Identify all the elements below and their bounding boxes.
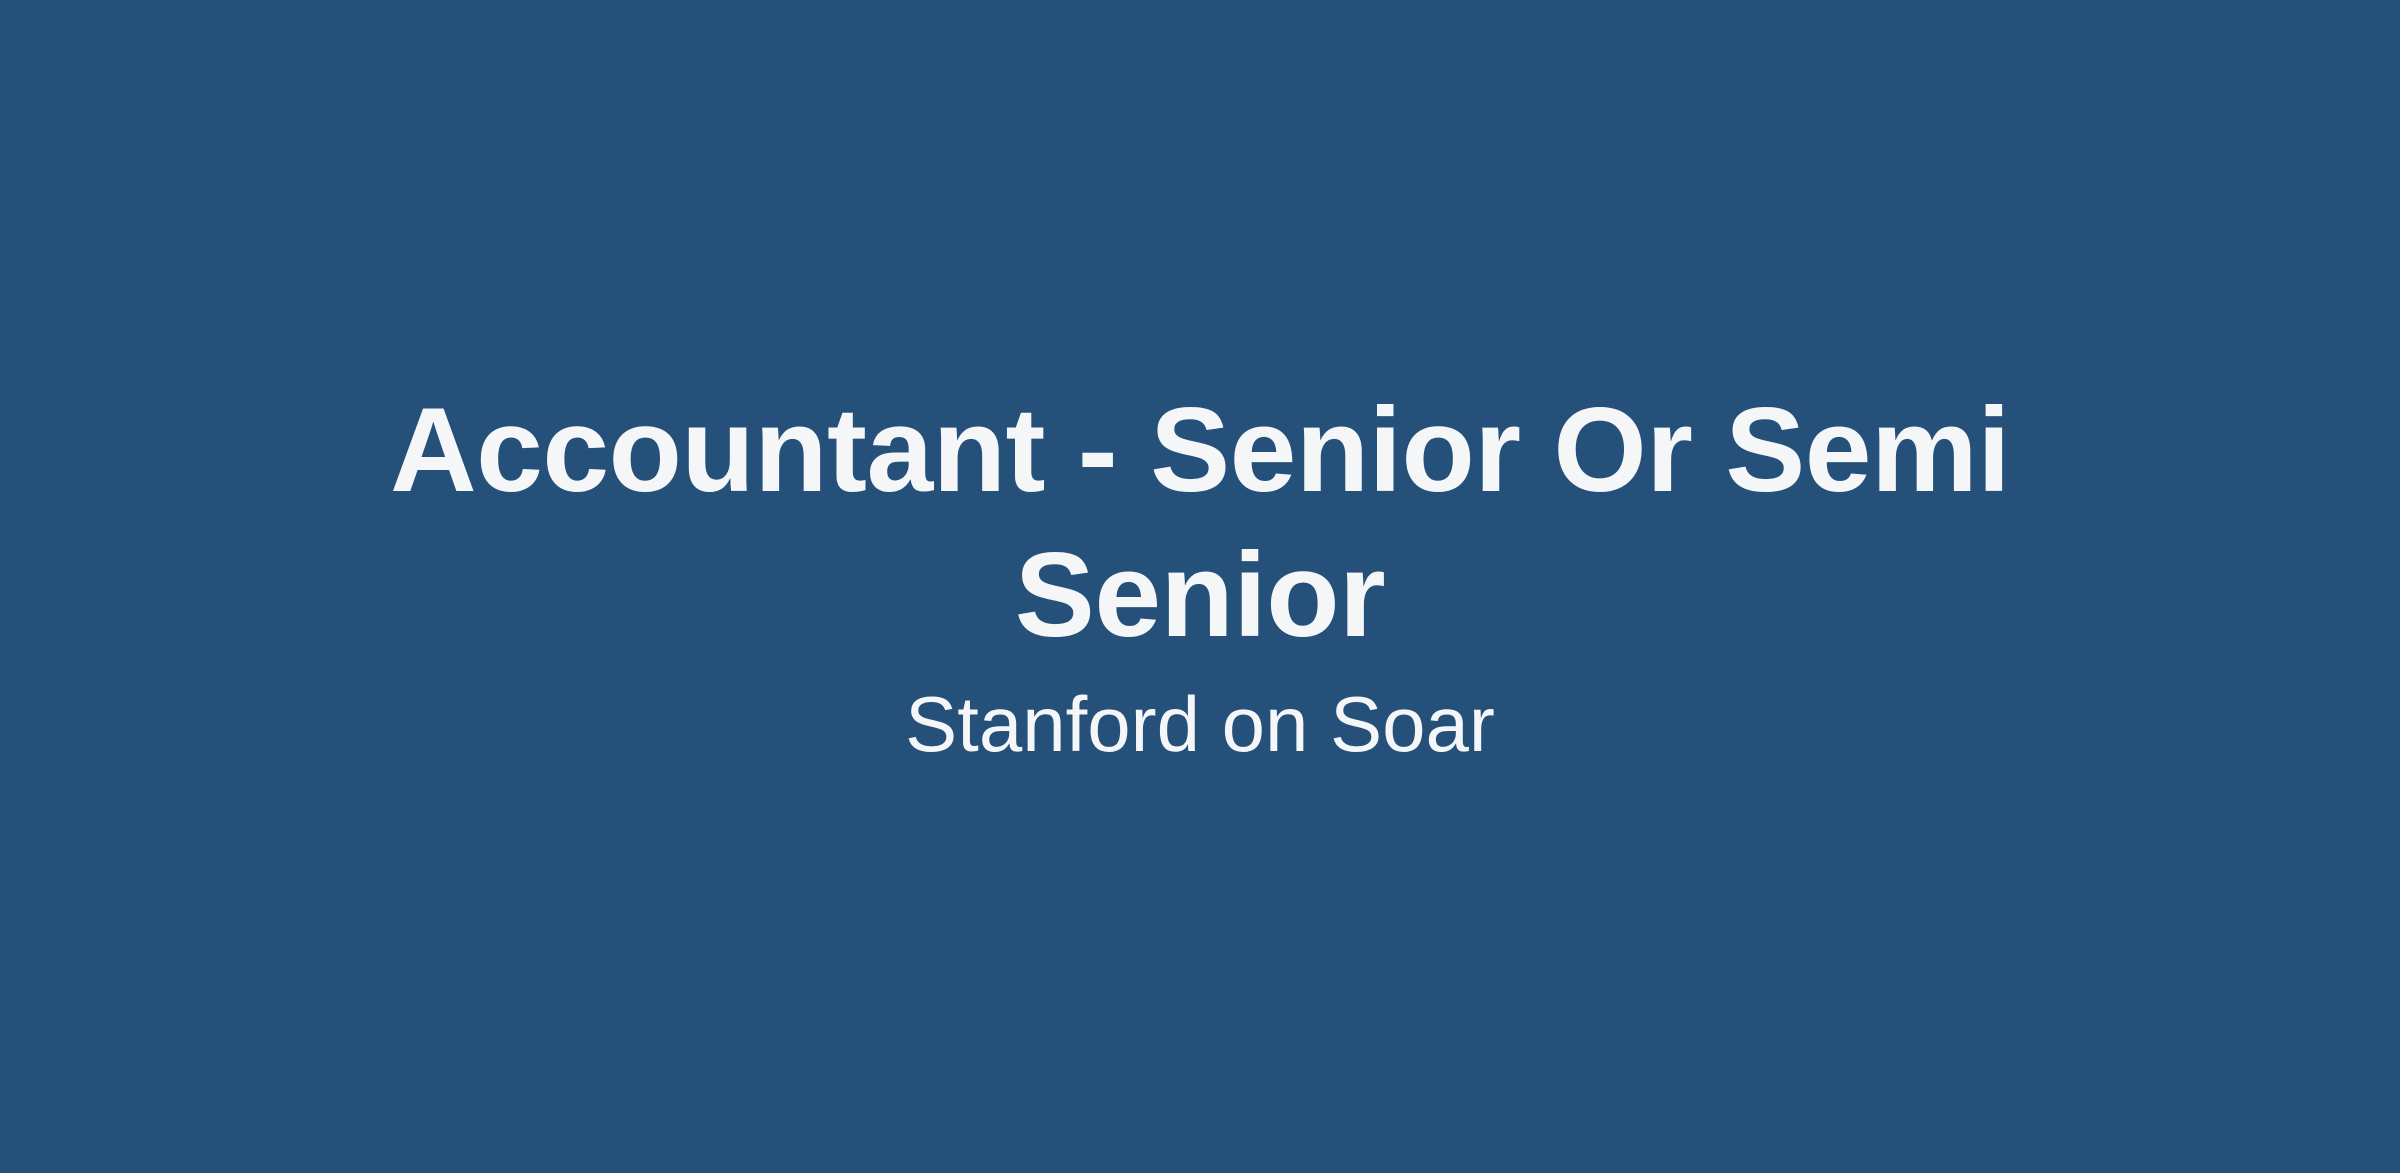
job-title: Accountant - Senior Or Semi Senior (350, 378, 2050, 668)
job-posting-banner: Accountant - Senior Or Semi Senior Stanf… (0, 0, 2400, 1173)
company-name: Stanford on Soar (905, 668, 1495, 772)
banner-content: Accountant - Senior Or Semi Senior Stanf… (340, 378, 2060, 772)
